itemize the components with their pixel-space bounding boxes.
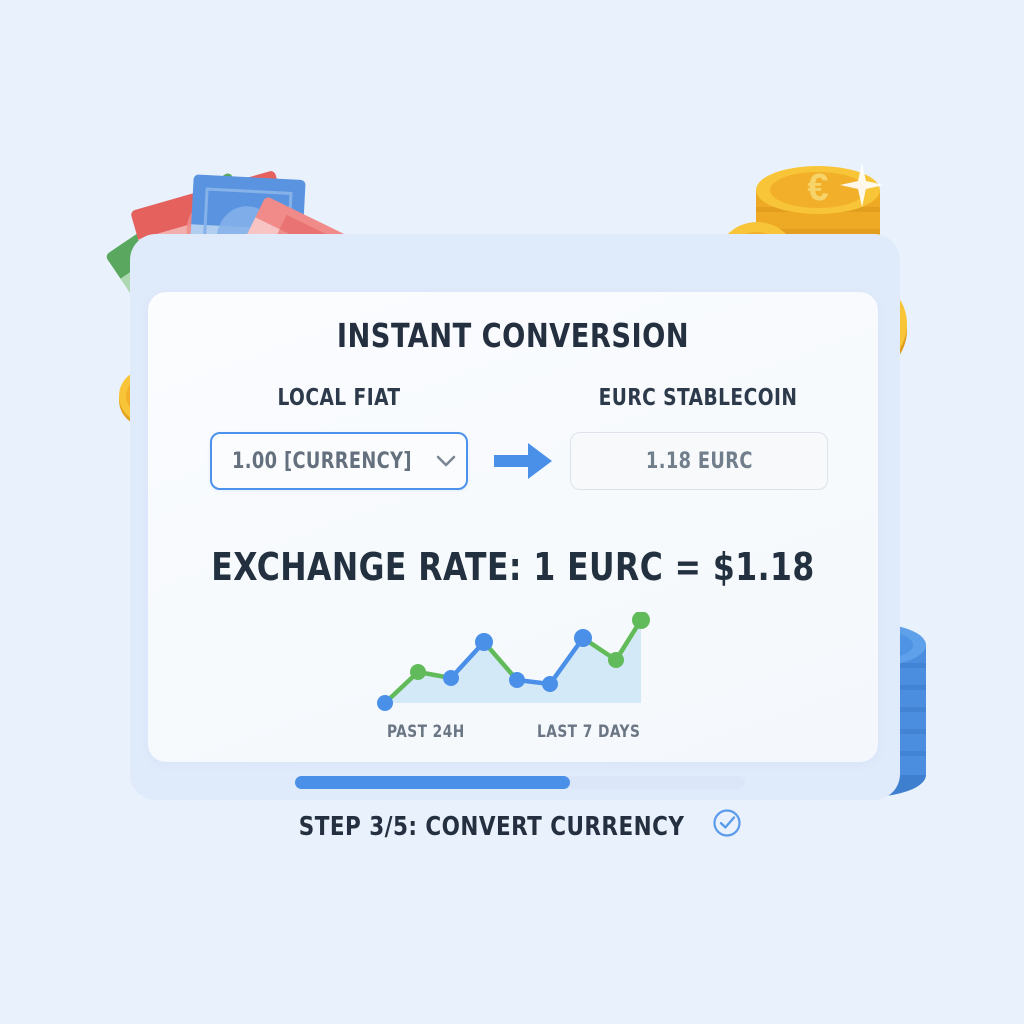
eurc-stablecoin-label: EURC STABLECOIN [581,385,815,411]
chart-tick-last-7-days: LAST 7 DAYS [537,722,640,742]
local-fiat-input[interactable]: 1.00 [CURRENCY] [210,432,468,490]
chart-area-fill [385,620,641,703]
page-title: INSTANT CONVERSION [177,316,849,355]
eurc-output-field: 1.18 EURC [570,432,828,490]
circle-check-icon [712,808,742,845]
chart-tick-labels: PAST 24H LAST 7 DAYS [375,722,650,746]
local-fiat-input-value: 1.00 [CURRENCY] [232,449,412,474]
chart-tick-past-24h: PAST 24H [387,722,465,742]
progress-bar-fill [295,776,570,789]
eurc-output-value: 1.18 EURC [646,449,753,474]
illustration-canvas: $ € € € [0,0,1024,1024]
svg-text:€: € [807,167,828,209]
rate-history-chart [375,612,650,712]
progress-bar-track [295,776,745,789]
step-label: STEP 3/5: CONVERT CURRENCY [299,812,685,842]
step-indicator: STEP 3/5: CONVERT CURRENCY [0,808,1024,845]
chevron-down-icon[interactable] [436,455,456,468]
local-fiat-label: LOCAL FIAT [222,385,456,411]
exchange-rate-text: EXCHANGE RATE: 1 EURC = $1.18 [177,545,849,589]
arrow-right-icon [492,440,554,482]
